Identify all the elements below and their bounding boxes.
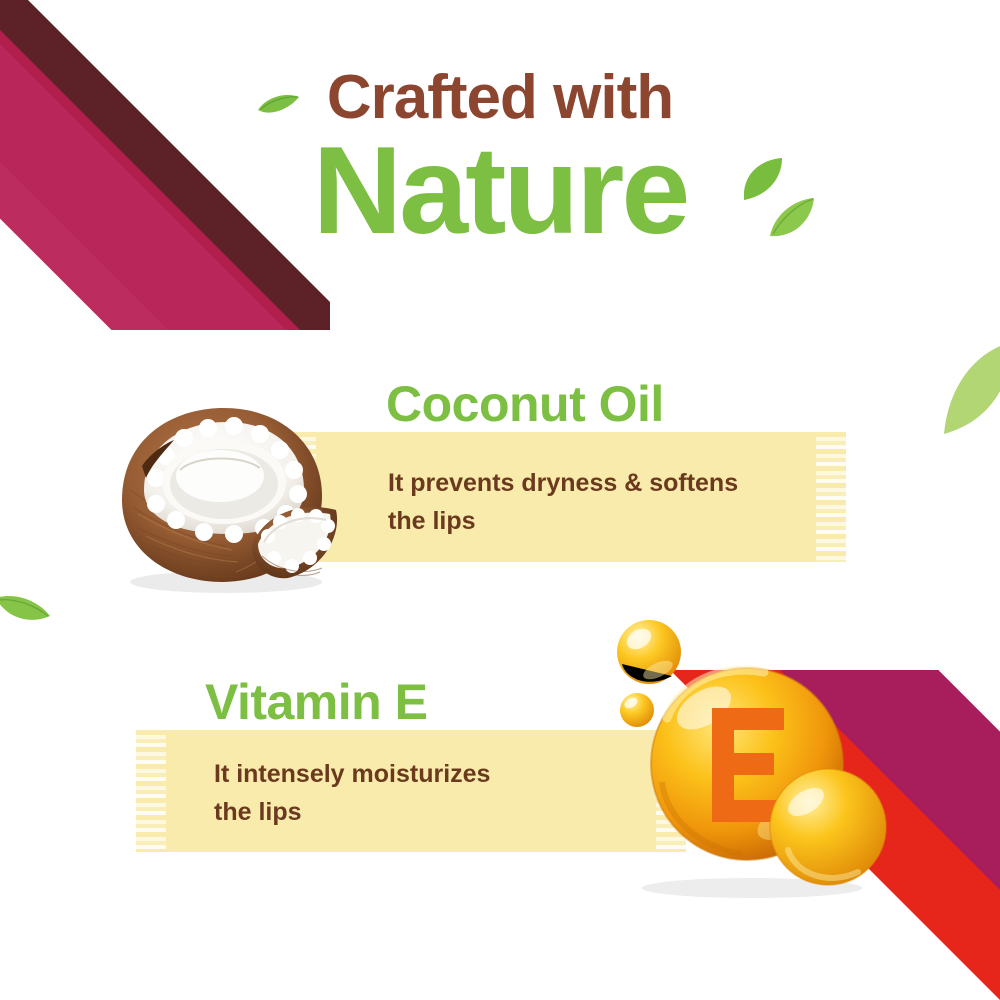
headline: Crafted with Nature bbox=[0, 66, 1000, 250]
leaf-right-edge-icon bbox=[944, 340, 1000, 436]
ribbon-band-dark-seam bbox=[670, 670, 1000, 928]
ingredient-poster: Crafted with Nature bbox=[0, 0, 1000, 1000]
headline-line-1: Crafted with bbox=[0, 66, 1000, 130]
ribbon-band-purple-magenta bbox=[670, 670, 1000, 1000]
ingredient-description-coconut-oil: It prevents dryness & softens the lips bbox=[388, 464, 828, 540]
ribbon-band-red bbox=[670, 670, 1000, 1000]
magenta-red-ribbon-corner-bottom-right bbox=[670, 670, 1000, 1000]
ingredient-description-vitamin-e: It intensely moisturizes the lips bbox=[214, 755, 634, 831]
ingredient-title-vitamin-e: Vitamin E bbox=[205, 676, 427, 728]
ingredient-title-coconut-oil: Coconut Oil bbox=[386, 378, 664, 430]
headline-line-2: Nature bbox=[0, 132, 1000, 250]
leaf-left-edge-icon bbox=[0, 592, 52, 626]
